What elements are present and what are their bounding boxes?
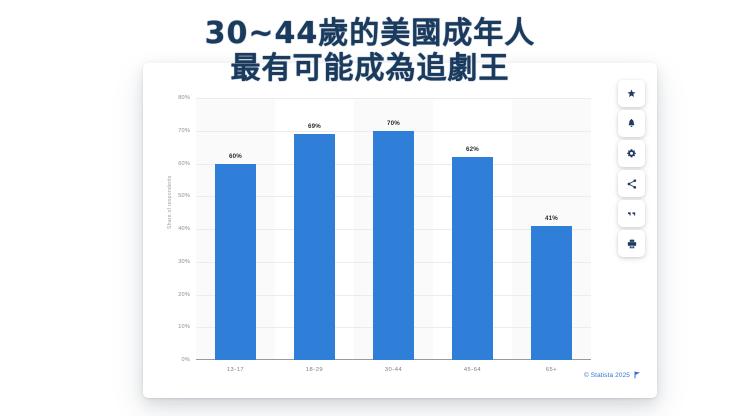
y-axis-tick-label: 10%: [178, 324, 190, 330]
y-axis-tick-label: 70%: [178, 128, 190, 134]
y-axis-tick-label: 50%: [178, 193, 190, 199]
y-axis-title: Share of respondents: [167, 175, 173, 229]
bell-icon: [627, 119, 636, 128]
favorite-button[interactable]: [618, 80, 645, 107]
y-axis-tick-label: 80%: [178, 95, 190, 101]
screenshot-root: Share of respondents 0%10%20%30%40%50%60…: [0, 0, 740, 416]
chart-bar[interactable]: 41%65+: [531, 226, 572, 360]
bar-value-label: 62%: [466, 146, 479, 153]
x-axis-tick-label: 65+: [546, 367, 557, 373]
settings-button[interactable]: [618, 140, 645, 167]
chart-footer: © Statista 2025: [584, 366, 641, 384]
flag-icon: [634, 366, 641, 384]
y-axis-tick-label: 20%: [178, 292, 190, 298]
page-title-line-1: 30~44歲的美國成年人: [0, 16, 740, 51]
chart-side-toolbar: [618, 80, 645, 257]
bar-value-label: 41%: [545, 215, 558, 222]
chart-bar[interactable]: 60%13-17: [215, 164, 256, 361]
x-axis-tick-label: 13-17: [227, 367, 244, 373]
x-axis-tick-label: 30-44: [385, 367, 402, 373]
share-button[interactable]: [618, 170, 645, 197]
chart-bar[interactable]: 70%30-44: [373, 131, 414, 360]
x-axis-tick-label: 18-29: [306, 367, 323, 373]
x-axis-tick-label: 45-64: [464, 367, 481, 373]
share-icon: [627, 179, 637, 189]
y-axis-tick-label: 0%: [182, 357, 191, 363]
bar-value-label: 60%: [229, 153, 242, 160]
alert-button[interactable]: [618, 110, 645, 137]
print-button[interactable]: [618, 230, 645, 257]
chart-bar[interactable]: 62%45-64: [452, 157, 493, 360]
y-axis-tick-label: 30%: [178, 259, 190, 265]
star-icon: [627, 89, 636, 98]
bar-value-label: 69%: [308, 123, 321, 130]
citation-button[interactable]: [618, 200, 645, 227]
y-axis-tick-label: 40%: [178, 226, 190, 232]
print-icon: [627, 239, 637, 249]
statista-credit-label: © Statista 2025: [584, 372, 630, 379]
quote-icon: [627, 209, 637, 219]
gridline: [196, 98, 591, 99]
statista-chart-card: Share of respondents 0%10%20%30%40%50%60…: [143, 63, 657, 398]
chart-plot-area: 0%10%20%30%40%50%60%70%80%60%13-1769%18-…: [196, 98, 591, 360]
y-axis-tick-label: 60%: [178, 161, 190, 167]
chart-bar[interactable]: 69%18-29: [294, 134, 335, 360]
gear-icon: [627, 149, 636, 158]
bar-value-label: 70%: [387, 120, 400, 127]
